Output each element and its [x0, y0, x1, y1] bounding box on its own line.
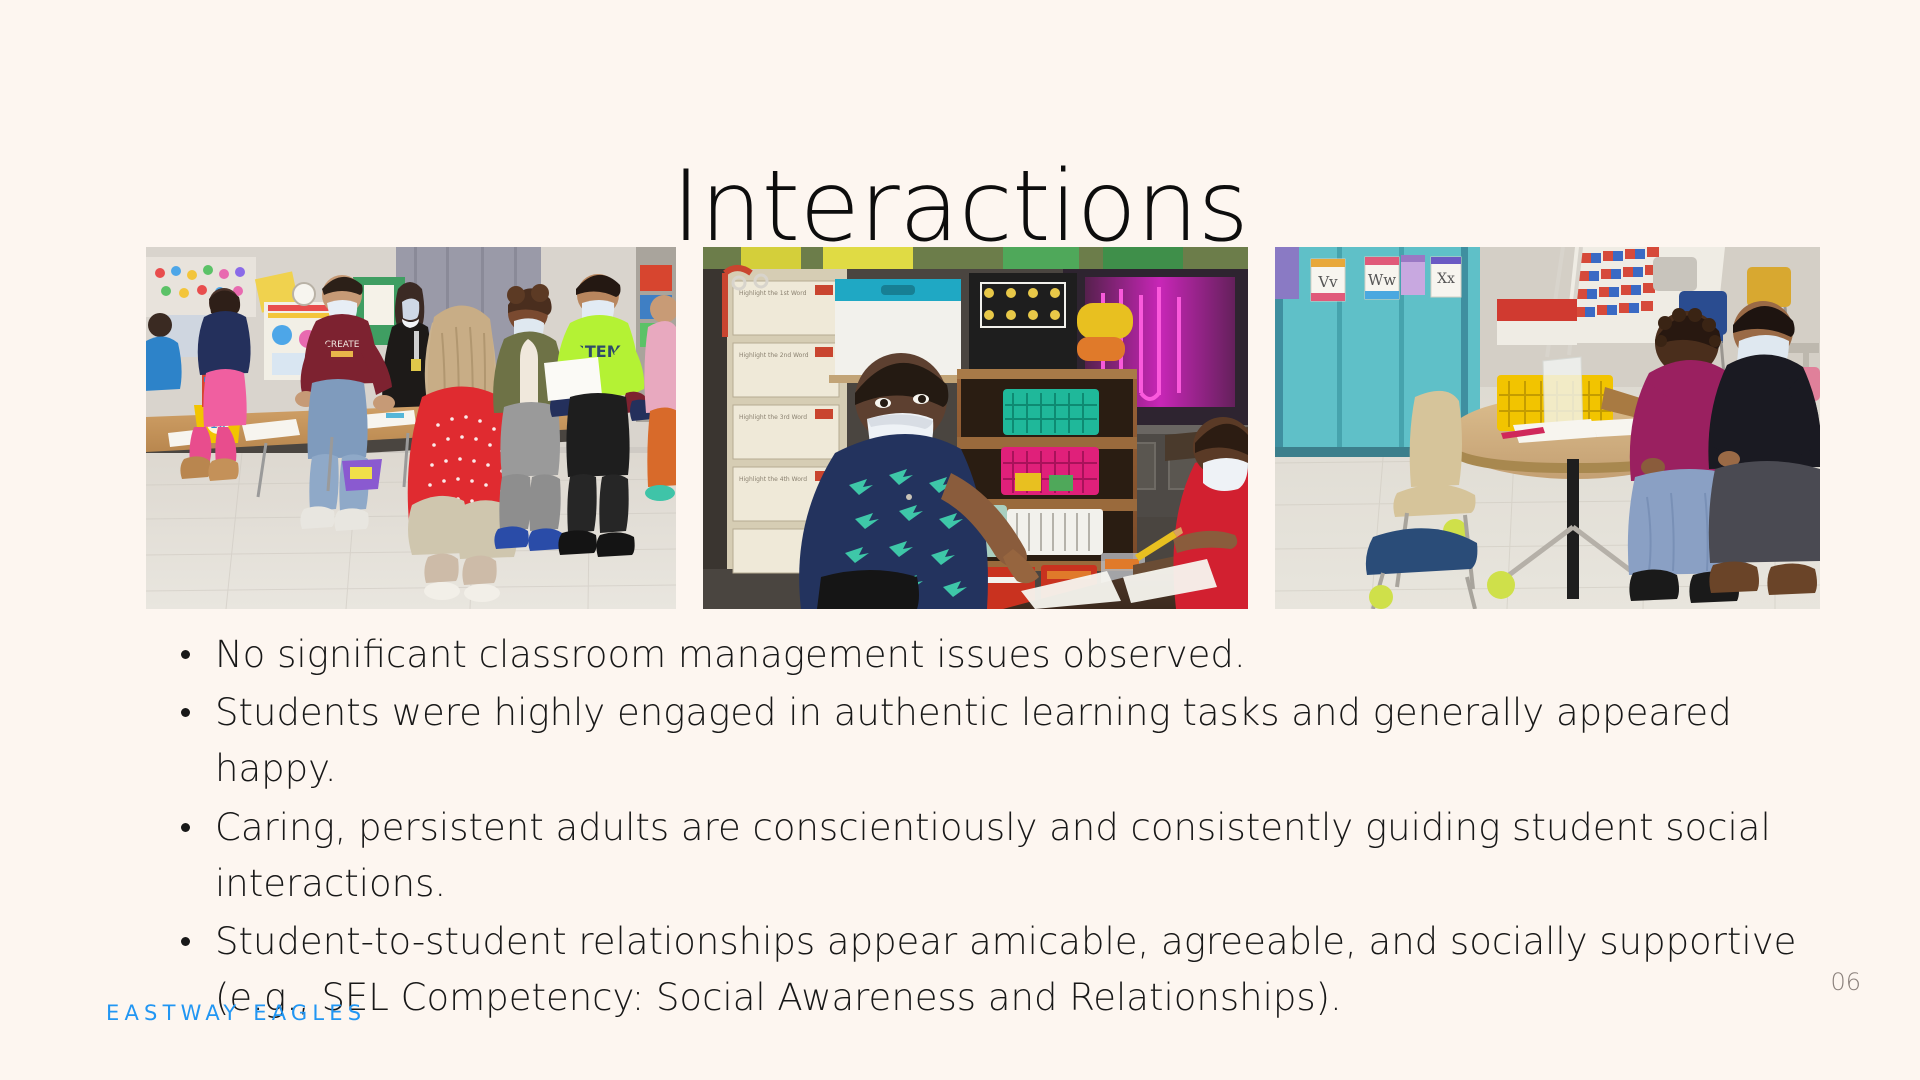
presentation-slide: Interactions [0, 0, 1920, 1080]
footer-brand: EASTWAY EAGLES [106, 1001, 366, 1025]
round-table-pair-photo: Vv Ww Xx [1275, 247, 1820, 609]
svg-text:Vv: Vv [1317, 273, 1338, 291]
bullet-text: No significant classroom management issu… [215, 633, 1246, 676]
list-item: No significant classroom management issu… [168, 627, 1828, 683]
page-title: Interactions [0, 158, 1920, 256]
svg-text:Highlight the 3rd Word: Highlight the 3rd Word [739, 414, 807, 421]
list-item: Caring, persistent adults are conscienti… [168, 800, 1828, 912]
list-item: Students were highly engaged in authenti… [168, 685, 1828, 797]
bookshelf-worksheet-photo: Highlight the 1st Word Highlight the 2nd… [703, 247, 1248, 609]
page-number: 06 [1830, 968, 1861, 996]
svg-text:CREATE: CREATE [325, 340, 360, 350]
svg-text:Highlight the 2nd Word: Highlight the 2nd Word [739, 352, 809, 359]
svg-text:Highlight the 4th Word: Highlight the 4th Word [739, 476, 807, 483]
classroom-table-group-photo: 10 [146, 247, 676, 609]
svg-text:Highlight the 1st Word: Highlight the 1st Word [739, 290, 807, 297]
svg-text:Ww: Ww [1368, 271, 1396, 289]
list-item: Student-to-student relationships appear … [168, 914, 1828, 1026]
bullet-text: Student-to-student relationships appear … [215, 920, 1796, 1019]
bullet-text: Students were highly engaged in authenti… [215, 691, 1732, 790]
bullet-list: No significant classroom management issu… [168, 627, 1828, 1029]
svg-text:Xx: Xx [1437, 271, 1455, 287]
photo-strip: 10 [146, 247, 1814, 609]
bullet-text: Caring, persistent adults are conscienti… [215, 806, 1771, 905]
